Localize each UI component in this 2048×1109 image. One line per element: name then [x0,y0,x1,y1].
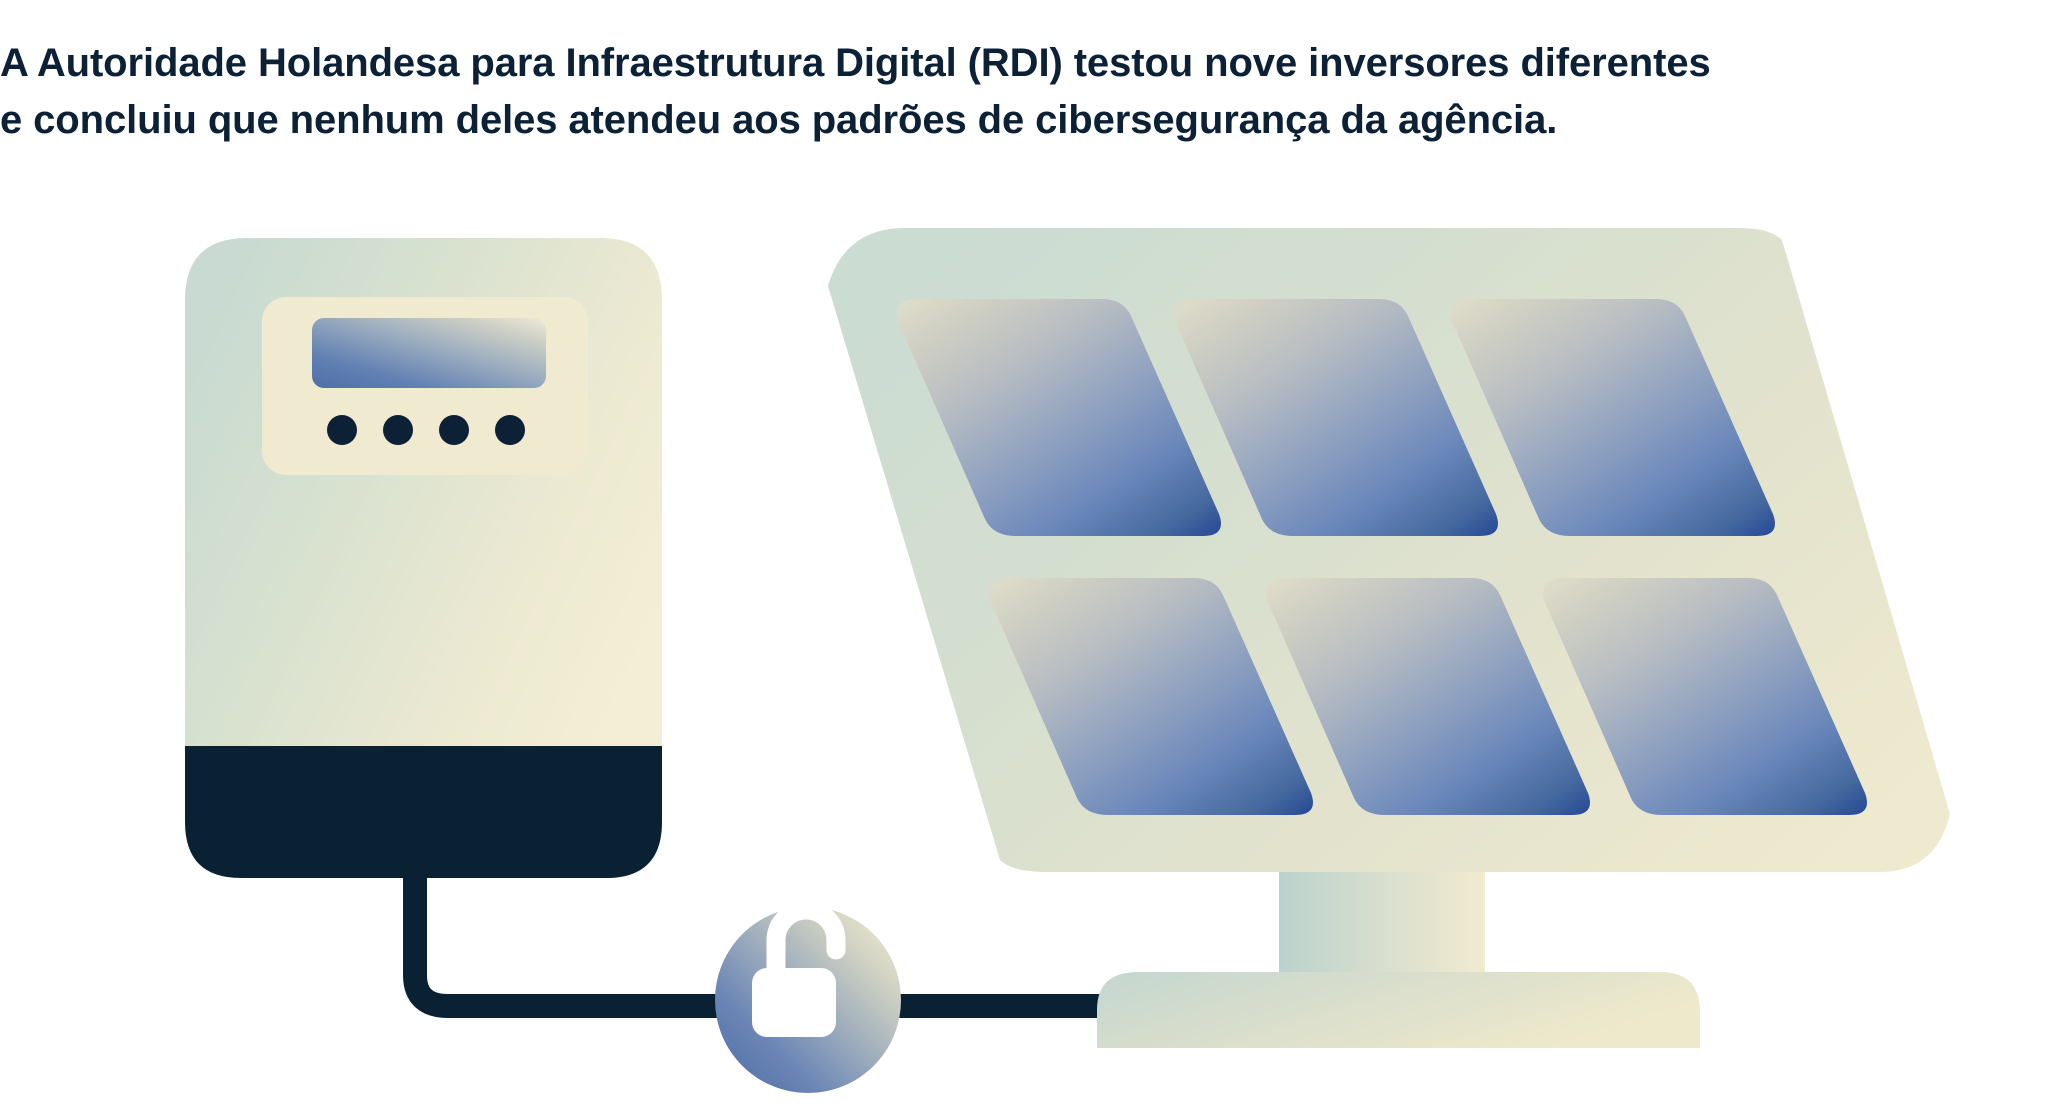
indicator-light [495,415,525,445]
illustration-canvas [0,0,2048,1109]
panel-stand [1097,860,1700,1048]
padlock-body [752,968,836,1037]
solar-inverter-illustration [0,0,2048,1109]
inverter-display-screen [312,318,546,388]
indicator-light [439,415,469,445]
solar-inverter [185,238,662,878]
stand-post [1279,860,1485,978]
indicator-light [327,415,357,445]
solar-panel [828,228,1950,872]
stand-base [1097,972,1700,1048]
page-root: A Autoridade Holandesa para Infraestrutu… [0,0,2048,1109]
indicator-light [383,415,413,445]
inverter-base-block [185,746,662,878]
security-lock-badge [715,907,901,1093]
